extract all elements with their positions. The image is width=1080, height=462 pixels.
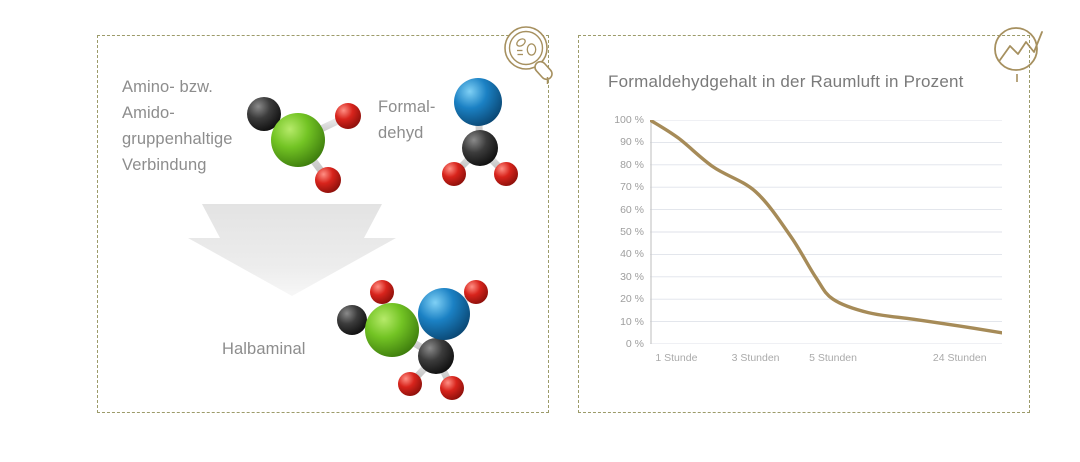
page-root: Amino- bzw. Amido- gruppenhaltige Verbin… [0,0,1080,462]
y-axis-tick: 10 % [600,316,644,328]
x-axis-tick: 1 Stunde [655,352,697,364]
x-axis-tick: 3 Stunden [732,352,780,364]
product-label: Halbaminal [222,338,306,360]
formaldehyde-molecule [436,70,524,192]
chart-area: 100 %90 %80 %70 %60 %50 %40 %30 %20 %10 … [600,120,1010,382]
y-axis-tick: 30 % [600,271,644,283]
chart-plot [650,120,1002,344]
x-axis-tick: 24 Stunden [933,352,987,364]
y-axis-labels: 100 %90 %80 %70 %60 %50 %40 %30 %20 %10 … [600,120,644,344]
y-axis-tick: 40 % [600,248,644,260]
chart-line-series [650,120,1002,333]
magnifier-molecule-icon [500,22,564,86]
y-axis-tick: 90 % [600,136,644,148]
amino-compound-molecule [236,84,376,196]
x-axis-tick: 5 Stunden [809,352,857,364]
chart-title: Formaldehydgehalt in der Raumluft in Pro… [608,72,964,92]
y-axis-tick: 0 % [600,338,644,350]
y-axis-tick: 80 % [600,159,644,171]
y-axis-tick: 70 % [600,181,644,193]
y-axis-tick: 100 % [600,114,644,126]
trend-circle-icon [988,22,1052,86]
y-axis-tick: 60 % [600,204,644,216]
y-axis-tick: 20 % [600,293,644,305]
x-axis-labels: 1 Stunde3 Stunden5 Stunden24 Stunden [650,352,1002,372]
reaction-down-arrow-icon [186,198,398,298]
y-axis-tick: 50 % [600,226,644,238]
